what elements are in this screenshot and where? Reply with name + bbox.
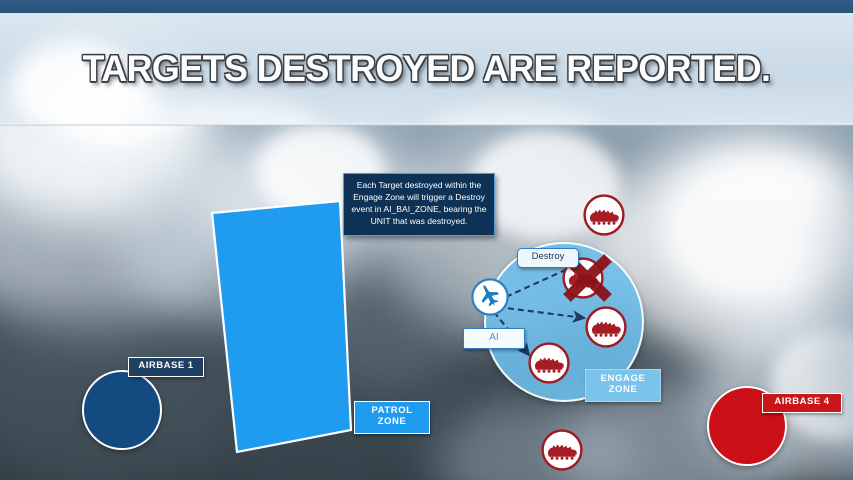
engage-zone-label[interactable]: ENGAGE ZONE xyxy=(585,369,661,402)
patrol-zone-label-line2: ZONE xyxy=(359,417,425,428)
airbase-4-label[interactable]: AIRBASE 4 xyxy=(762,393,842,413)
target-north-outside-icon[interactable] xyxy=(582,193,626,237)
page-title: TARGETS DESTROYED ARE REPORTED. xyxy=(13,13,840,125)
patrol-zone-polygon[interactable] xyxy=(212,201,351,452)
target-far-south-outside-icon[interactable] xyxy=(540,428,584,472)
ai-unit-label[interactable]: AI xyxy=(463,328,525,349)
airbase-1-label[interactable]: AIRBASE 1 xyxy=(128,357,204,377)
engage-zone-label-line2: ZONE xyxy=(590,385,656,396)
patrol-zone-label[interactable]: PATROL ZONE xyxy=(354,401,430,434)
callout-description: Each Target destroyed within the Engage … xyxy=(343,173,495,236)
target-south-icon[interactable] xyxy=(527,341,571,385)
target-east-icon[interactable] xyxy=(584,305,628,349)
ai-aircraft-icon[interactable] xyxy=(470,277,510,317)
slide: TARGETS DESTROYED ARE REPORTED. xyxy=(0,0,853,480)
top-accent-band xyxy=(0,0,853,13)
destroy-event-label[interactable]: Destroy xyxy=(517,248,579,268)
airbase-1-circle[interactable] xyxy=(82,370,162,450)
